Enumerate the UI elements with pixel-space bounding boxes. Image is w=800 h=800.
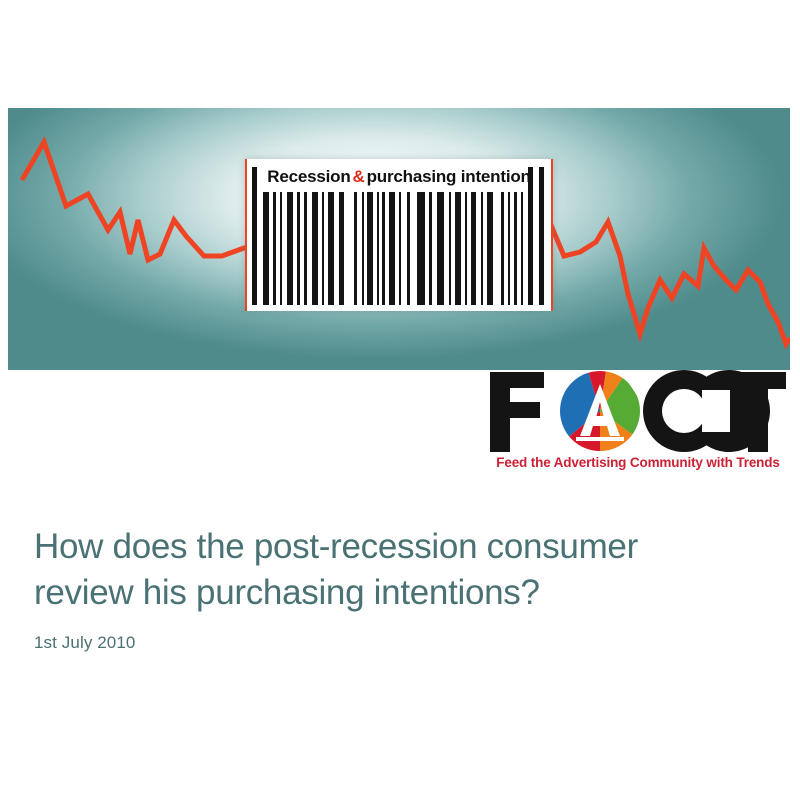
logo-tagline: Feed the Advertising Community with Tren… [488, 455, 788, 470]
barcode-caption-after: purchasing intention [367, 167, 531, 187]
barcode-bar [367, 192, 373, 305]
barcode-caption-before: Recession [267, 167, 350, 187]
barcode-bar [449, 192, 451, 305]
barcode-bar [481, 192, 483, 305]
barcode-guard-bar-left [252, 167, 257, 305]
barcode-bar [508, 192, 510, 305]
barcode-caption: Recession & purchasing intention [265, 164, 533, 190]
barcode-bar [455, 192, 461, 305]
barcode-bar [362, 192, 364, 305]
barcode-bar [487, 192, 493, 305]
barcode-bars [261, 192, 525, 305]
barcode-bar [273, 192, 276, 305]
barcode-bar [304, 192, 307, 305]
barcode-bar [377, 192, 379, 305]
barcode-bar [407, 192, 410, 305]
barcode-bar [354, 192, 357, 305]
barcode-bar [399, 192, 401, 305]
barcode-bar [429, 192, 432, 305]
logo-letter-c-hole [662, 389, 706, 433]
barcode-bar [389, 192, 395, 305]
barcode-bar [382, 192, 385, 305]
barcode-bar [514, 192, 517, 305]
barcode-bar [471, 192, 476, 305]
barcode-bar [328, 192, 334, 305]
barcode-bar [287, 192, 293, 305]
barcode-bar [437, 192, 444, 305]
barcode-bar [322, 192, 324, 305]
barcode-guard-bar-right-b [539, 167, 544, 305]
logo-letter-c-notch [702, 390, 730, 432]
logo-letter-f [490, 372, 544, 452]
barcode-bar [417, 192, 425, 305]
title-block: How does the post-recession consumer rev… [34, 524, 764, 653]
barcode-right-red-rule [551, 159, 553, 311]
barcode-caption-ampersand: & [351, 167, 367, 187]
barcode-bar [501, 192, 504, 305]
presentation-title-slide: { "slide": { "title": "How does the post… [0, 0, 800, 800]
page-title: How does the post-recession consumer rev… [34, 524, 764, 616]
barcode-bar [465, 192, 467, 305]
barcode-bar [297, 192, 300, 305]
logo-letter-a [560, 371, 640, 451]
barcode-bar [312, 192, 318, 305]
barcode-panel: Recession & purchasing intention [245, 159, 553, 311]
barcode-guard-bar-right-a [528, 167, 533, 305]
barcode-bar [339, 192, 344, 305]
hero-banner: Recession & purchasing intention [8, 108, 790, 370]
fact-wordmark [488, 370, 788, 452]
barcode-bar [280, 192, 282, 305]
fact-logo: Feed the Advertising Community with Tren… [488, 370, 788, 480]
barcode-bar [263, 192, 269, 305]
barcode-bar [521, 192, 523, 305]
logo-a-baseline-gap [576, 437, 624, 441]
barcode-left-red-rule [245, 159, 247, 311]
slide-date: 1st July 2010 [34, 633, 764, 653]
